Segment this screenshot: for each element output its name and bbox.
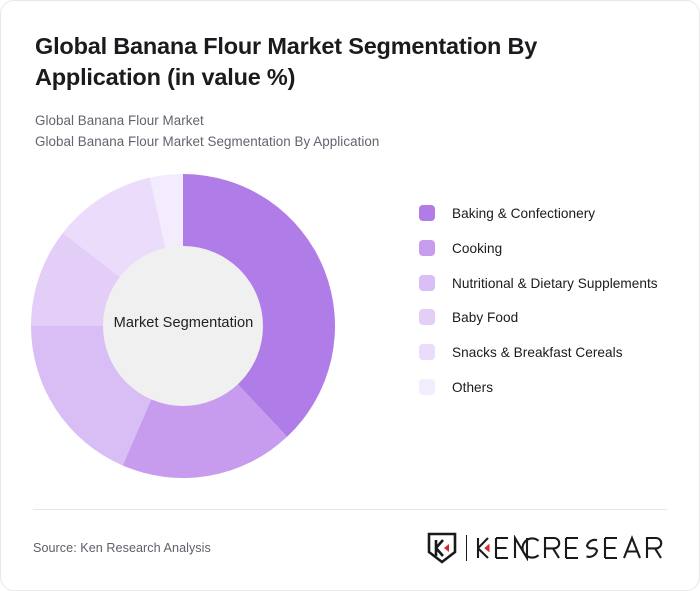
legend-label: Baby Food	[452, 308, 518, 328]
legend-item[interactable]: Baking & Confectionery	[419, 204, 669, 224]
ken-research-badge-icon	[427, 532, 457, 564]
legend-item[interactable]: Baby Food	[419, 308, 669, 328]
donut-chart: Market Segmentation	[31, 168, 336, 478]
legend-label: Cooking	[452, 239, 502, 259]
page-title: Global Banana Flour Market Segmentation …	[35, 31, 605, 93]
legend-swatch-icon	[419, 205, 435, 221]
wordmark-accent-triangle	[484, 544, 489, 553]
chart-legend: Baking & ConfectioneryCookingNutritional…	[419, 204, 669, 412]
legend-item[interactable]: Cooking	[419, 239, 669, 259]
subtitle-segmentation: Global Banana Flour Market Segmentation …	[35, 131, 665, 152]
subtitle-block: Global Banana Flour Market Global Banana…	[35, 110, 665, 152]
legend-swatch-icon	[419, 309, 435, 325]
legend-swatch-icon	[419, 275, 435, 291]
chart-card: Global Banana Flour Market Segmentation …	[0, 0, 700, 591]
legend-label: Snacks & Breakfast Cereals	[452, 343, 623, 363]
subtitle-market: Global Banana Flour Market	[35, 110, 665, 131]
chart-body: Market Segmentation Baking & Confectione…	[1, 168, 699, 488]
chart-header: Global Banana Flour Market Segmentation …	[1, 1, 699, 152]
legend-swatch-icon	[419, 240, 435, 256]
donut-svg	[31, 168, 336, 478]
legend-swatch-icon	[419, 379, 435, 395]
logo-divider	[466, 535, 467, 561]
chart-footer: Source: Ken Research Analysis	[33, 529, 671, 567]
legend-swatch-icon	[419, 344, 435, 360]
legend-label: Baking & Confectionery	[452, 204, 595, 224]
legend-item[interactable]: Nutritional & Dietary Supplements	[419, 274, 669, 294]
legend-item[interactable]: Others	[419, 378, 669, 398]
ken-research-logo	[427, 532, 671, 564]
legend-item[interactable]: Snacks & Breakfast Cereals	[419, 343, 669, 363]
donut-hole	[103, 246, 263, 406]
legend-label: Others	[452, 378, 493, 398]
footer-divider	[33, 509, 667, 510]
legend-label: Nutritional & Dietary Supplements	[452, 274, 658, 294]
ken-research-wordmark	[475, 535, 671, 561]
source-note: Source: Ken Research Analysis	[33, 541, 211, 555]
